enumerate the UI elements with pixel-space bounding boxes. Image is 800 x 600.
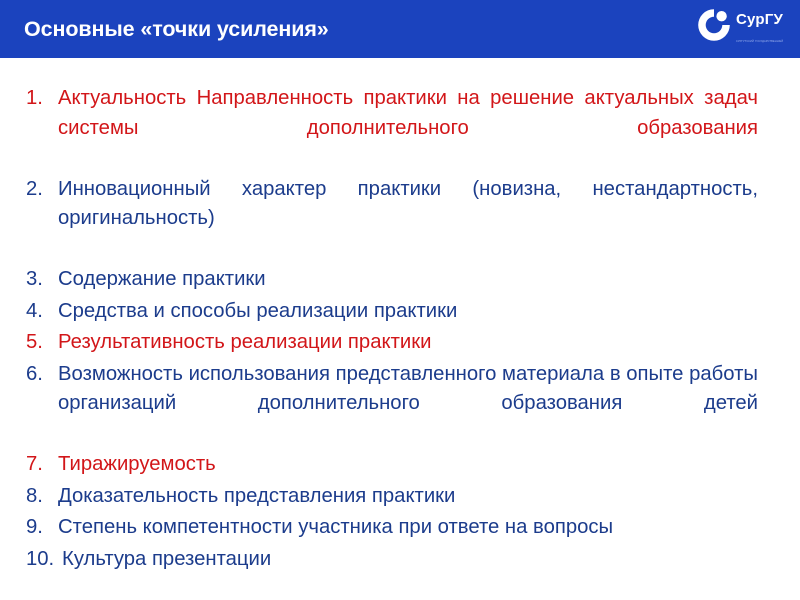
list-item-text: Средства и способы реализации практики: [58, 297, 758, 327]
logo-subtitle: Сургутский государственный университет: [736, 40, 783, 58]
logo-text-block: СурГУ Сургутский государственный универс…: [736, 11, 792, 58]
list-item-number: 9.: [26, 513, 58, 543]
list-item: 3.Содержание практики: [26, 265, 758, 295]
slide-header-band: Основные «точки усиления» СурГУ Сургутск…: [0, 0, 800, 58]
list-item-text: Культура презентации: [62, 545, 758, 575]
list-item-number: 5.: [26, 328, 58, 358]
list-item: 8.Доказательность представления практики: [26, 482, 758, 512]
list-item: 2.Инновационный характер практики (новиз…: [26, 175, 758, 264]
list-item-text: Актуальность Направленность практики на …: [58, 84, 758, 173]
list-item-text: Доказательность представления практики: [58, 482, 758, 512]
list-item-number: 8.: [26, 482, 58, 512]
list-item-number: 2.: [26, 175, 58, 205]
list-item-number: 10.: [26, 545, 62, 575]
list-item-text: Возможность использования представленног…: [58, 360, 758, 449]
criteria-list: 1.Актуальность Направленность практики н…: [26, 84, 758, 574]
list-item: 7.Тиражируемость: [26, 450, 758, 480]
list-item-text: Содержание практики: [58, 265, 758, 295]
list-item-number: 6.: [26, 360, 58, 390]
list-item: 10.Культура презентации: [26, 545, 758, 575]
list-item-text: Тиражируемость: [58, 450, 758, 480]
slide-body: 1.Актуальность Направленность практики н…: [26, 84, 758, 574]
surgu-ring-icon: [696, 7, 732, 43]
surgu-logo: СурГУ Сургутский государственный универс…: [696, 5, 792, 51]
list-item-number: 1.: [26, 84, 58, 114]
list-item-text: Степень компетентности участника при отв…: [58, 513, 758, 543]
list-item: 9.Степень компетентности участника при о…: [26, 513, 758, 543]
list-item: 6.Возможность использования представленн…: [26, 360, 758, 449]
list-item-number: 4.: [26, 297, 58, 327]
list-item-number: 3.: [26, 265, 58, 295]
list-item-text: Инновационный характер практики (новизна…: [58, 175, 758, 264]
slide: Основные «точки усиления» СурГУ Сургутск…: [0, 0, 800, 600]
page-title: Основные «точки усиления»: [24, 0, 329, 58]
list-item-number: 7.: [26, 450, 58, 480]
list-item: 5.Результативность реализации практики: [26, 328, 758, 358]
list-item: 1.Актуальность Направленность практики н…: [26, 84, 758, 173]
logo-wordmark: СурГУ: [736, 11, 783, 28]
list-item-text: Результативность реализации практики: [58, 328, 758, 358]
list-item: 4.Средства и способы реализации практики: [26, 297, 758, 327]
